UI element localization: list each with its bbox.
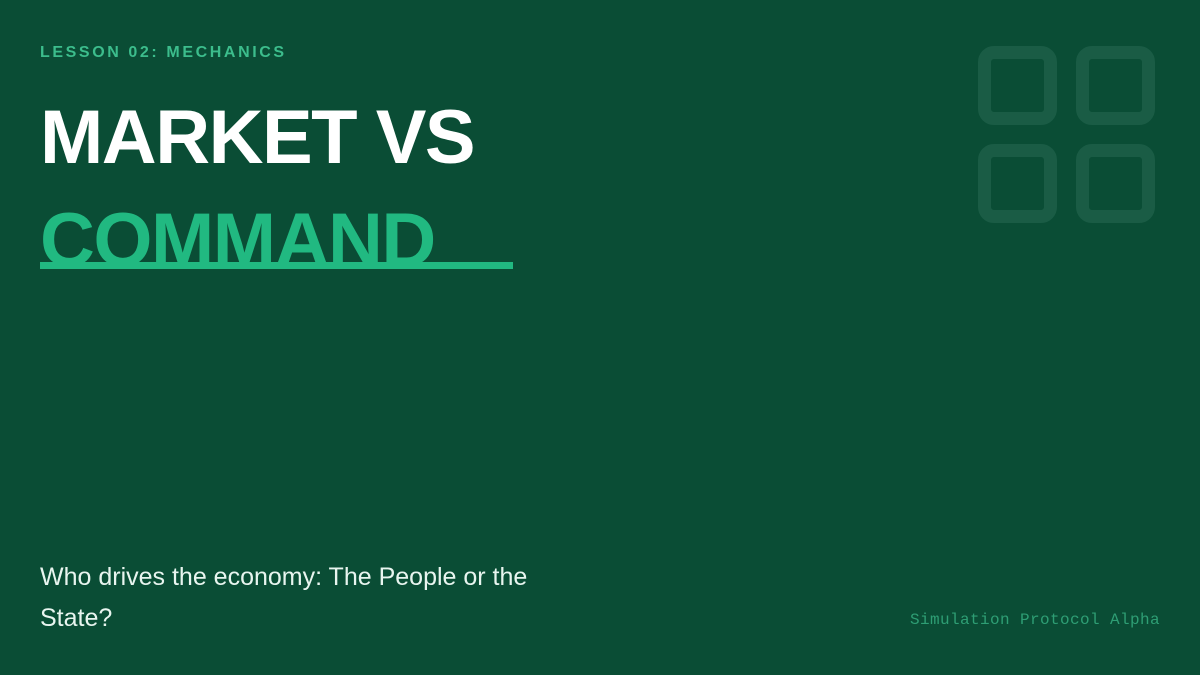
deco-square-top-right-icon bbox=[1076, 46, 1155, 125]
lesson-eyebrow: LESSON 02: MECHANICS bbox=[40, 42, 287, 64]
headline-underline bbox=[40, 262, 513, 269]
headline-line-accent: COMMAND bbox=[40, 189, 435, 292]
slide-subtitle: Who drives the economy: The People or th… bbox=[40, 557, 560, 639]
footer-protocol-label: Simulation Protocol Alpha bbox=[910, 611, 1160, 629]
deco-square-bottom-left-icon bbox=[978, 144, 1057, 223]
decorative-grid-icon bbox=[978, 46, 1155, 223]
deco-square-top-left-icon bbox=[978, 46, 1057, 125]
deco-square-bottom-right-icon bbox=[1076, 144, 1155, 223]
slide-root: LESSON 02: MECHANICS MARKET VS COMMAND W… bbox=[0, 0, 1200, 675]
headline-line-primary: MARKET VS bbox=[40, 86, 940, 189]
